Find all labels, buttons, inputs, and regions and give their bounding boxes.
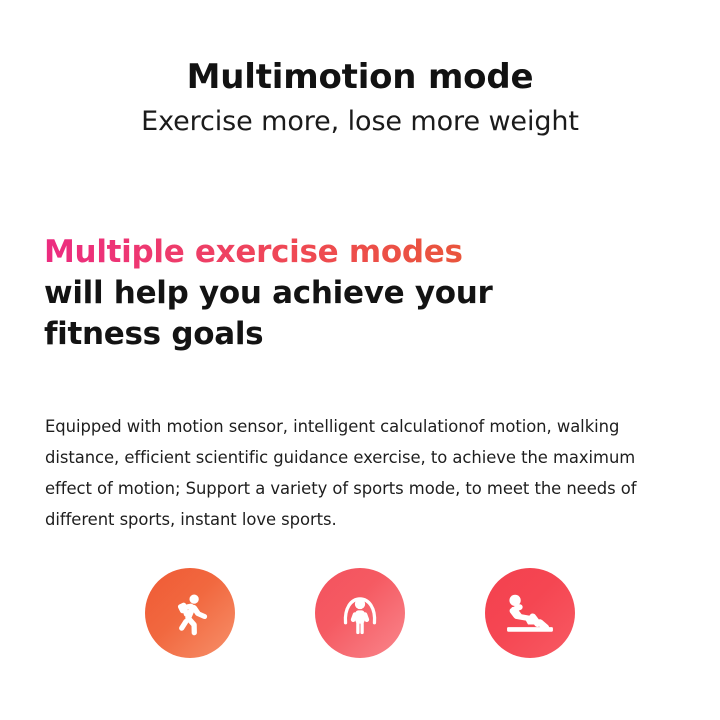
description-paragraph: Equipped with motion sensor, intelligent… [45, 412, 675, 535]
pitch-line-2: will help you achieve your [44, 273, 684, 314]
product-feature-page: Multimotion mode Exercise more, lose mor… [0, 0, 720, 720]
header: Multimotion mode Exercise more, lose mor… [0, 58, 720, 138]
pitch-line-3: fitness goals [44, 314, 684, 355]
jump-rope-icon [335, 588, 385, 638]
page-title: Multimotion mode [0, 58, 720, 96]
jump-rope-icon-badge[interactable] [315, 568, 405, 658]
pitch-headline: Multiple exercise modes will help you ac… [44, 232, 684, 356]
running-icon-badge[interactable] [145, 568, 235, 658]
sit-up-icon-badge[interactable] [485, 568, 575, 658]
running-icon [166, 589, 214, 637]
sit-up-icon [504, 590, 556, 636]
sport-mode-icon-row [0, 568, 720, 658]
pitch-accent-line: Multiple exercise modes [44, 232, 463, 273]
page-subtitle: Exercise more, lose more weight [0, 106, 720, 138]
